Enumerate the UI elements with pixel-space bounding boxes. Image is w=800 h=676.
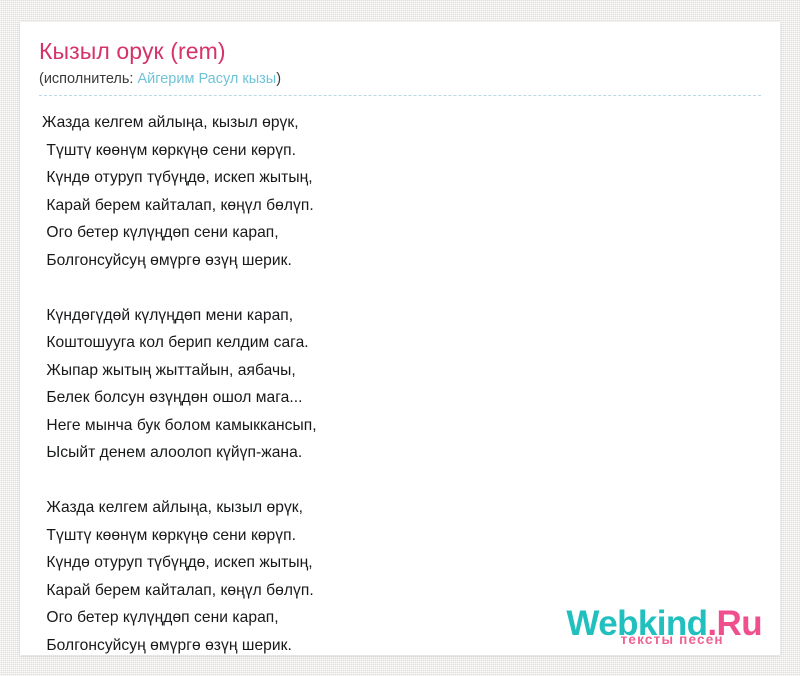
artist-label: (исполнитель: bbox=[39, 71, 137, 87]
site-logo[interactable]: Webkind.Ru тексты песен bbox=[566, 606, 762, 647]
logo-brand-word: Webkind bbox=[566, 604, 707, 643]
page-title: Кызыл орук (rem) bbox=[39, 37, 780, 65]
song-header: Кызыл орук (rem) (исполнитель: Айгерим Р… bbox=[20, 22, 780, 89]
lyrics-text: Жазда келгем айлыңа, кызыл өрүк, Түштү к… bbox=[20, 96, 780, 659]
artist-line: (исполнитель: Айгерим Расул кызы) bbox=[39, 69, 780, 89]
artist-link[interactable]: Айгерим Расул кызы bbox=[137, 71, 276, 87]
song-card: Кызыл орук (rem) (исполнитель: Айгерим Р… bbox=[20, 22, 780, 655]
logo-tld-text: .Ru bbox=[707, 604, 762, 643]
artist-suffix: ) bbox=[276, 71, 281, 87]
logo-brand-text: Webkind.Ru bbox=[566, 606, 762, 641]
